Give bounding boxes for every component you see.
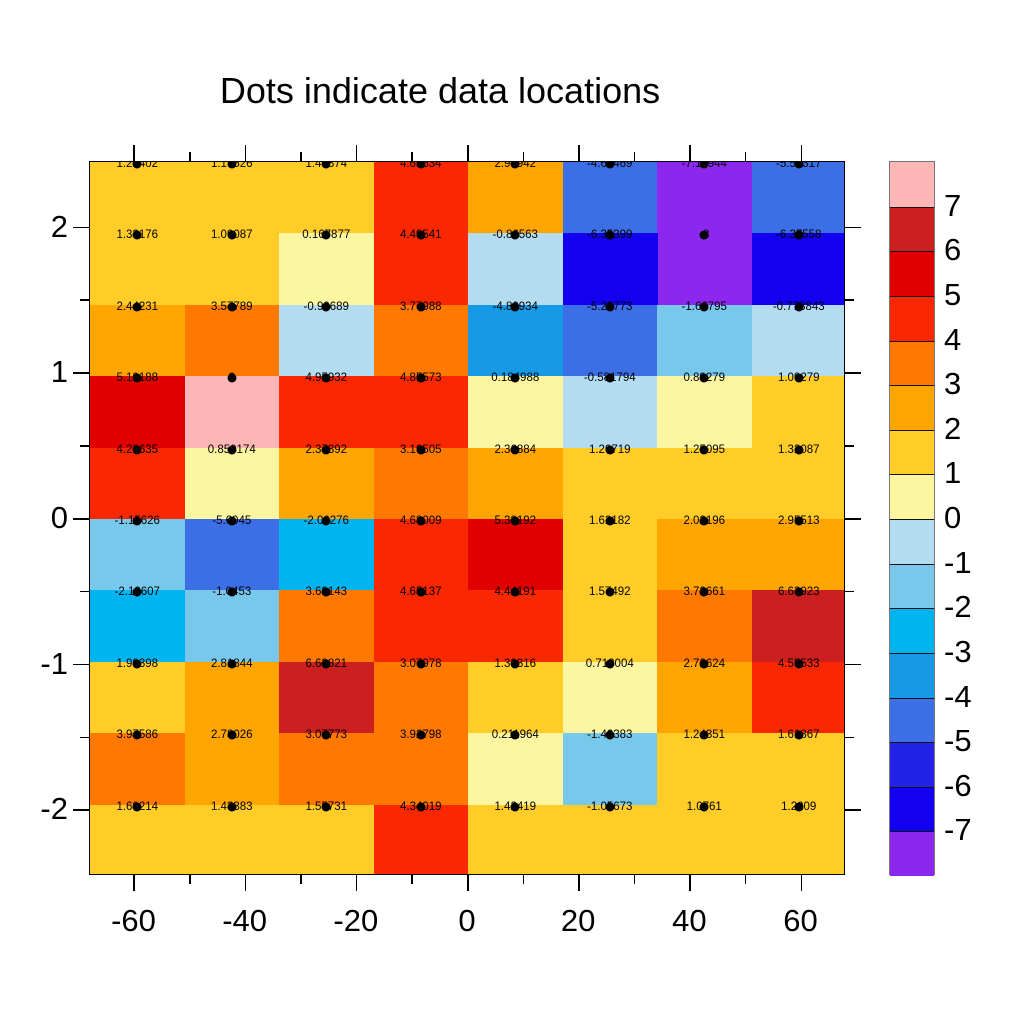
data-location-dot xyxy=(416,588,425,597)
y-axis-minor-tick xyxy=(845,591,854,593)
data-location-dot xyxy=(322,588,331,597)
heatmap-cell xyxy=(90,519,185,591)
data-location-dot xyxy=(322,517,331,526)
y-axis-minor-tick xyxy=(845,299,854,301)
colorbar-tick-label: 1 xyxy=(944,455,961,491)
y-axis-minor-tick xyxy=(80,591,89,593)
heatmap-cell xyxy=(90,590,185,662)
data-location-dot xyxy=(133,445,142,454)
x-axis-minor-tick xyxy=(300,152,302,161)
data-location-dot xyxy=(416,731,425,740)
data-location-dot xyxy=(511,588,520,597)
y-axis-tick-label: 0 xyxy=(22,500,68,536)
chart-canvas: Dots indicate data locations 1.214021.18… xyxy=(0,0,1024,1024)
y-axis-minor-tick xyxy=(80,445,89,447)
y-axis-minor-tick xyxy=(80,299,89,301)
data-location-dot xyxy=(605,517,614,526)
data-location-dot xyxy=(700,802,709,811)
x-axis-major-tick xyxy=(245,145,247,161)
heatmap-cell xyxy=(185,448,280,520)
y-axis-major-tick xyxy=(73,227,89,229)
data-location-dot xyxy=(133,802,142,811)
data-location-dot xyxy=(416,231,425,240)
data-location-dot xyxy=(794,231,803,240)
heatmap-cell xyxy=(468,590,563,662)
data-location-dot xyxy=(700,302,709,311)
colorbar-tick-label: 5 xyxy=(944,277,961,313)
x-axis-tick-label: 0 xyxy=(458,903,475,939)
heatmap-cell xyxy=(468,662,563,734)
data-location-dot xyxy=(133,374,142,383)
data-location-dot xyxy=(511,302,520,311)
data-location-dot xyxy=(416,517,425,526)
y-axis-major-tick xyxy=(845,809,861,811)
heatmap-cell xyxy=(563,733,658,805)
y-axis-major-tick xyxy=(73,664,89,666)
heatmap-plot-area: 1.214021.185261.438744.686342.91942-4.66… xyxy=(89,161,845,875)
data-location-dot xyxy=(605,802,614,811)
data-location-dot xyxy=(605,302,614,311)
data-location-dot xyxy=(322,445,331,454)
heatmap-cell xyxy=(657,733,845,805)
data-location-dot xyxy=(133,517,142,526)
data-location-dot xyxy=(322,659,331,668)
data-location-dot xyxy=(605,659,614,668)
heatmap-cell xyxy=(185,733,280,805)
heatmap-cell xyxy=(90,448,185,520)
heatmap-cell xyxy=(185,590,280,662)
x-axis-minor-tick xyxy=(745,875,747,884)
data-location-dot xyxy=(511,445,520,454)
x-axis-tick-label: -40 xyxy=(222,903,267,939)
x-axis-minor-tick xyxy=(300,875,302,884)
heatmap-cell xyxy=(185,376,280,448)
colorbar-tick-label: -5 xyxy=(944,723,972,759)
x-axis-major-tick xyxy=(245,875,247,891)
heatmap-cell xyxy=(563,233,658,305)
x-axis-major-tick xyxy=(467,145,469,161)
y-axis-major-tick xyxy=(845,227,861,229)
heatmap-cell xyxy=(657,305,752,377)
data-location-dot xyxy=(794,445,803,454)
data-location-dot xyxy=(416,445,425,454)
x-axis-major-tick xyxy=(133,145,135,161)
data-location-dot xyxy=(511,374,520,383)
data-location-dot xyxy=(700,517,709,526)
y-axis-tick-label: -1 xyxy=(22,646,68,682)
heatmap-cell xyxy=(90,662,185,734)
heatmap-cell xyxy=(185,162,280,234)
data-location-dot xyxy=(133,659,142,668)
heatmap-cell xyxy=(279,305,374,377)
colorbar-band xyxy=(890,207,934,252)
heatmap-cell xyxy=(752,662,846,734)
heatmap-cell xyxy=(279,162,374,234)
colorbar-tick-label: -7 xyxy=(944,812,972,848)
y-axis-major-tick xyxy=(73,372,89,374)
y-axis-tick-label: 2 xyxy=(22,209,68,245)
data-location-dot xyxy=(794,731,803,740)
data-location-dot xyxy=(511,231,520,240)
heatmap-cell xyxy=(657,662,752,734)
colorbar-band xyxy=(890,251,934,296)
x-axis-tick-label: 20 xyxy=(561,903,595,939)
heatmap-cell xyxy=(468,448,563,520)
colorbar-band xyxy=(890,519,934,564)
heatmap-cell xyxy=(563,519,658,591)
y-axis-minor-tick xyxy=(80,737,89,739)
colorbar-band xyxy=(890,296,934,341)
heatmap-cell xyxy=(563,305,658,377)
colorbar-tick-label: 3 xyxy=(944,366,961,402)
data-location-dot xyxy=(416,659,425,668)
colorbar-tick-label: -1 xyxy=(944,545,972,581)
x-axis-major-tick xyxy=(801,875,803,891)
colorbar-band xyxy=(890,653,934,698)
y-axis-major-tick xyxy=(73,809,89,811)
heatmap-cell xyxy=(657,519,845,591)
colorbar-band xyxy=(890,742,934,787)
heatmap-cell xyxy=(657,590,752,662)
data-location-dot xyxy=(322,374,331,383)
colorbar-tick-label: -4 xyxy=(944,679,972,715)
heatmap-cell xyxy=(752,590,846,662)
heatmap-cell xyxy=(468,733,563,805)
x-axis-minor-tick xyxy=(523,152,525,161)
heatmap-cell xyxy=(563,448,846,520)
x-axis-major-tick xyxy=(356,145,358,161)
heatmap-cell xyxy=(374,305,469,377)
data-location-dot xyxy=(794,517,803,526)
colorbar xyxy=(889,161,935,875)
data-location-dot xyxy=(133,302,142,311)
colorbar-tick-label: -2 xyxy=(944,589,972,625)
heatmap-cell xyxy=(752,162,846,234)
data-location-dot xyxy=(605,588,614,597)
data-location-dot xyxy=(700,374,709,383)
data-location-dot xyxy=(227,659,236,668)
heatmap-cell xyxy=(752,233,846,305)
heatmap-cell xyxy=(468,305,563,377)
x-axis-minor-tick xyxy=(634,875,636,884)
heatmap-cell xyxy=(279,590,374,662)
colorbar-band xyxy=(890,341,934,386)
x-axis-minor-tick xyxy=(411,152,413,161)
colorbar-tick-label: 6 xyxy=(944,232,961,268)
y-axis-minor-tick xyxy=(845,445,854,447)
data-location-dot xyxy=(511,659,520,668)
data-location-dot xyxy=(133,231,142,240)
colorbar-band xyxy=(890,385,934,430)
x-axis-major-tick xyxy=(467,875,469,891)
data-location-dot xyxy=(605,374,614,383)
heatmap-cell xyxy=(563,662,658,734)
heatmap-cell xyxy=(563,162,658,234)
heatmap-cell xyxy=(279,376,469,448)
colorbar-band xyxy=(890,162,934,207)
colorbar-tick-label: 4 xyxy=(944,322,961,358)
data-location-dot xyxy=(511,731,520,740)
x-axis-minor-tick xyxy=(523,875,525,884)
y-axis-major-tick xyxy=(845,372,861,374)
heatmap-cell xyxy=(90,805,374,875)
colorbar-tick-label: -6 xyxy=(944,768,972,804)
data-location-dot xyxy=(700,731,709,740)
x-axis-minor-tick xyxy=(411,875,413,884)
x-axis-major-tick xyxy=(689,875,691,891)
y-axis-tick-label: 1 xyxy=(22,354,68,390)
data-location-dot xyxy=(227,802,236,811)
heatmap-cell xyxy=(374,590,469,662)
data-location-dot xyxy=(700,588,709,597)
heatmap-cell xyxy=(657,376,752,448)
data-location-dot xyxy=(322,231,331,240)
y-axis-major-tick xyxy=(73,518,89,520)
data-location-dot xyxy=(227,517,236,526)
x-axis-minor-tick xyxy=(189,875,191,884)
heatmap-cell xyxy=(279,733,469,805)
data-location-dot xyxy=(133,588,142,597)
heatmap-cell xyxy=(563,376,658,448)
heatmap-cell xyxy=(90,305,185,377)
heatmap-cell xyxy=(185,662,280,734)
data-location-dot xyxy=(794,802,803,811)
x-axis-major-tick xyxy=(578,145,580,161)
x-axis-tick-label: -20 xyxy=(333,903,378,939)
y-axis-major-tick xyxy=(845,518,861,520)
heatmap-cell xyxy=(279,448,374,520)
data-location-dot xyxy=(227,445,236,454)
x-axis-tick-label: 40 xyxy=(672,903,706,939)
y-axis-major-tick xyxy=(845,664,861,666)
y-axis-tick-label: -2 xyxy=(22,791,68,827)
heatmap-cell xyxy=(279,519,374,591)
heatmap-cell xyxy=(468,233,563,305)
heatmap-cell xyxy=(279,662,374,734)
data-location-dot xyxy=(700,659,709,668)
heatmap-cell xyxy=(90,162,185,234)
colorbar-band xyxy=(890,564,934,609)
x-axis-major-tick xyxy=(801,145,803,161)
heatmap-cell xyxy=(374,662,469,734)
data-location-dot xyxy=(794,659,803,668)
x-axis-tick-label: -60 xyxy=(111,903,156,939)
heatmap-cell xyxy=(374,448,469,520)
data-location-dot xyxy=(227,302,236,311)
data-location-dot xyxy=(700,231,709,240)
heatmap-cell xyxy=(752,376,846,448)
heatmap-cell xyxy=(563,590,658,662)
data-location-dot xyxy=(227,588,236,597)
data-location-dot xyxy=(605,231,614,240)
data-location-dot xyxy=(227,231,236,240)
data-location-dot xyxy=(416,302,425,311)
data-location-dot xyxy=(700,445,709,454)
x-axis-tick-label: 60 xyxy=(783,903,817,939)
heatmap-cell xyxy=(468,376,563,448)
x-axis-major-tick xyxy=(578,875,580,891)
colorbar-band xyxy=(890,787,934,832)
colorbar-band xyxy=(890,474,934,519)
data-location-dot xyxy=(322,731,331,740)
heatmap-cell xyxy=(374,519,469,591)
chart-title: Dots indicate data locations xyxy=(0,70,880,112)
y-axis-minor-tick xyxy=(845,737,854,739)
x-axis-minor-tick xyxy=(634,152,636,161)
colorbar-tick-label: -3 xyxy=(944,634,972,670)
heatmap-cell xyxy=(90,733,185,805)
colorbar-tick-label: 0 xyxy=(944,500,961,536)
data-location-dot xyxy=(133,731,142,740)
data-location-dot xyxy=(794,302,803,311)
colorbar-tick-label: 7 xyxy=(944,188,961,224)
x-axis-major-tick xyxy=(356,875,358,891)
heatmap-cell xyxy=(468,805,845,875)
data-location-dot xyxy=(511,802,520,811)
data-location-dot xyxy=(605,445,614,454)
data-location-dot xyxy=(605,731,614,740)
heatmap-cell xyxy=(468,162,563,234)
x-axis-major-tick xyxy=(689,145,691,161)
heatmap-cell xyxy=(752,305,846,377)
heatmap-cell xyxy=(90,376,185,448)
heatmap-cell xyxy=(374,805,469,875)
x-axis-minor-tick xyxy=(745,152,747,161)
data-location-dot xyxy=(322,302,331,311)
x-axis-major-tick xyxy=(133,875,135,891)
colorbar-band xyxy=(890,430,934,475)
heatmap-cell xyxy=(185,305,280,377)
colorbar-band xyxy=(890,608,934,653)
data-location-dot xyxy=(794,374,803,383)
colorbar-tick-label: 2 xyxy=(944,411,961,447)
data-location-dot xyxy=(511,517,520,526)
data-location-dot xyxy=(416,802,425,811)
data-location-dot xyxy=(322,802,331,811)
data-location-dot xyxy=(227,374,236,383)
data-location-dot xyxy=(794,588,803,597)
data-location-dot xyxy=(416,374,425,383)
heatmap-cell xyxy=(185,519,280,591)
colorbar-band xyxy=(890,831,934,876)
data-location-dot xyxy=(227,731,236,740)
colorbar-band xyxy=(890,698,934,743)
x-axis-minor-tick xyxy=(189,152,191,161)
heatmap-cell xyxy=(468,519,563,591)
heatmap-cell xyxy=(279,233,374,305)
heatmap-cell xyxy=(90,233,280,305)
